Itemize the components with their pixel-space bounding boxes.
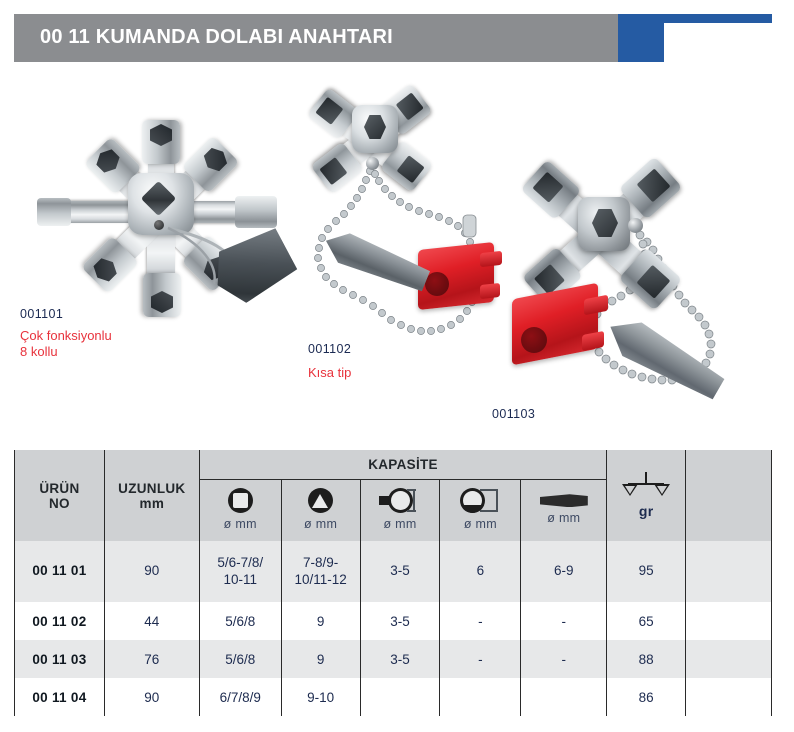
cell-weight: 86	[607, 678, 686, 716]
red-key-insert	[418, 240, 508, 314]
bit-blade-icon	[540, 494, 588, 507]
cell-key	[360, 678, 440, 716]
cell-bit: -	[521, 640, 607, 678]
cell-code: 00 11 04	[15, 678, 105, 716]
specification-table: ÜRÜN NO UZUNLUK mm KAPASİTE gr	[14, 450, 772, 716]
product-gallery: 001101 Çok fonksiyonlu 8 kollu 001102 Kı…	[0, 70, 794, 445]
cell-extra	[686, 602, 772, 640]
cell-key: 3-5	[360, 541, 440, 602]
cell-code: 00 11 02	[15, 602, 105, 640]
col-header-gr: gr	[607, 450, 686, 541]
cell-bit: 6-9	[521, 541, 607, 602]
page-title: 00 11 KUMANDA DOLABI ANAHTARI	[40, 26, 393, 49]
col-header-kapasite: KAPASİTE	[199, 450, 606, 480]
page-header: 00 11 KUMANDA DOLABI ANAHTARI	[0, 0, 794, 70]
cell-half: -	[440, 640, 521, 678]
product-image-001103	[500, 115, 785, 415]
chain-ring	[366, 157, 379, 170]
cell-key: 3-5	[360, 640, 440, 678]
cell-bit: -	[521, 602, 607, 640]
half-circle-icon	[458, 488, 502, 513]
cell-square: 5/6-7/8/ 10-11	[199, 541, 281, 602]
col-header-bit: ø mm	[521, 480, 607, 542]
square-in-circle-icon	[228, 488, 253, 513]
cell-triangle: 7-8/9- 10/11-12	[281, 541, 360, 602]
cell-key: 3-5	[360, 602, 440, 640]
cell-length: 44	[104, 602, 199, 640]
table-row[interactable]: 00 11 03 76 5/6/8 9 3-5 - - 88	[15, 640, 772, 678]
cell-triangle: 9-10	[281, 678, 360, 716]
cell-triangle: 9	[281, 602, 360, 640]
col-header-key: ø mm	[360, 480, 440, 542]
cell-bit	[521, 678, 607, 716]
col-header-half: ø mm	[440, 480, 521, 542]
col-header-triangle: ø mm	[281, 480, 360, 542]
cell-weight: 88	[607, 640, 686, 678]
product-image-001101	[18, 88, 288, 318]
cell-extra	[686, 541, 772, 602]
col-header-uzunluk: UZUNLUK mm	[104, 450, 199, 541]
cell-weight: 95	[607, 541, 686, 602]
cell-half: -	[440, 602, 521, 640]
product-image-001102	[300, 75, 515, 375]
col-header-empty	[686, 450, 772, 541]
triangle-in-circle-icon	[308, 488, 333, 513]
cell-square: 5/6/8	[199, 640, 281, 678]
table-group-header-row: ÜRÜN NO UZUNLUK mm KAPASİTE gr	[15, 450, 772, 480]
chain-ring	[628, 218, 643, 233]
header-blue-strip	[618, 14, 772, 23]
red-key-insert	[512, 283, 622, 369]
cell-extra	[686, 640, 772, 678]
table-row[interactable]: 00 11 01 90 5/6-7/8/ 10-11 7-8/9- 10/11-…	[15, 541, 772, 602]
cell-square: 5/6/8	[199, 602, 281, 640]
cell-half	[440, 678, 521, 716]
cell-square: 6/7/8/9	[199, 678, 281, 716]
col-header-urun-no: ÜRÜN NO	[15, 450, 105, 541]
scale-icon	[626, 472, 666, 498]
cell-weight: 65	[607, 602, 686, 640]
cell-code: 00 11 01	[15, 541, 105, 602]
table-row[interactable]: 00 11 04 90 6/7/8/9 9-10 86	[15, 678, 772, 716]
col-header-square: ø mm	[199, 480, 281, 542]
key-circle-icon	[379, 488, 421, 513]
cell-code: 00 11 03	[15, 640, 105, 678]
product-caption-001101: Çok fonksiyonlu 8 kollu	[20, 328, 112, 359]
cell-length: 90	[104, 541, 199, 602]
cell-triangle: 9	[281, 640, 360, 678]
table-row[interactable]: 00 11 02 44 5/6/8 9 3-5 - - 65	[15, 602, 772, 640]
cell-length: 76	[104, 640, 199, 678]
cell-length: 90	[104, 678, 199, 716]
cell-half: 6	[440, 541, 521, 602]
cell-extra	[686, 678, 772, 716]
